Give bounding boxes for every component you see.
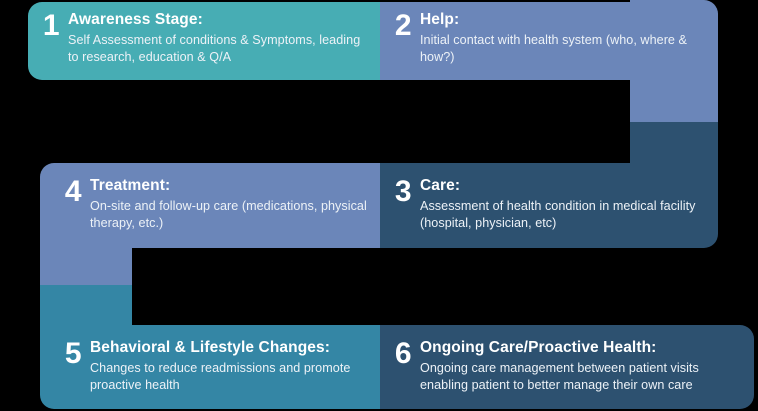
- step-content-1: Awareness Stage: Self Assessment of cond…: [68, 11, 380, 66]
- step-title-2: Help:: [420, 11, 708, 29]
- step-block-1[interactable]: 1 Awareness Stage: Self Assessment of co…: [28, 2, 380, 80]
- step-content-5: Behavioral & Lifestyle Changes: Changes …: [90, 339, 380, 394]
- step-number-5: 5: [56, 339, 90, 369]
- step-block-3[interactable]: 3 Care: Assessment of health condition i…: [380, 163, 718, 248]
- step-number-2: 2: [386, 11, 420, 41]
- step-description-5: Changes to reduce readmissions and promo…: [90, 360, 370, 394]
- step-number-6: 6: [386, 339, 420, 369]
- step-content-6: Ongoing Care/Proactive Health: Ongoing c…: [420, 339, 754, 394]
- step-block-5[interactable]: 5 Behavioral & Lifestyle Changes: Change…: [40, 325, 380, 409]
- step-title-5: Behavioral & Lifestyle Changes:: [90, 339, 370, 357]
- step-title-6: Ongoing Care/Proactive Health:: [420, 339, 744, 357]
- step-description-4: On-site and follow-up care (medications,…: [90, 198, 370, 232]
- step-content-3: Care: Assessment of health condition in …: [420, 177, 718, 232]
- step-number-1: 1: [34, 11, 68, 41]
- step-number-4: 4: [56, 177, 90, 207]
- step-block-6[interactable]: 6 Ongoing Care/Proactive Health: Ongoing…: [380, 325, 754, 409]
- step-block-4[interactable]: 4 Treatment: On-site and follow-up care …: [40, 163, 380, 248]
- step-content-4: Treatment: On-site and follow-up care (m…: [90, 177, 380, 232]
- step-block-2[interactable]: 2 Help: Initial contact with health syst…: [380, 2, 718, 80]
- step-title-1: Awareness Stage:: [68, 11, 370, 29]
- step-number-3: 3: [386, 177, 420, 207]
- step-description-1: Self Assessment of conditions & Symptoms…: [68, 32, 370, 66]
- step-description-3: Assessment of health condition in medica…: [420, 198, 708, 232]
- step-title-3: Care:: [420, 177, 708, 195]
- step-content-2: Help: Initial contact with health system…: [420, 11, 718, 66]
- step-description-6: Ongoing care management between patient …: [420, 360, 744, 394]
- process-flow-diagram: 1 Awareness Stage: Self Assessment of co…: [0, 0, 758, 411]
- step-description-2: Initial contact with health system (who,…: [420, 32, 708, 66]
- step-title-4: Treatment:: [90, 177, 370, 195]
